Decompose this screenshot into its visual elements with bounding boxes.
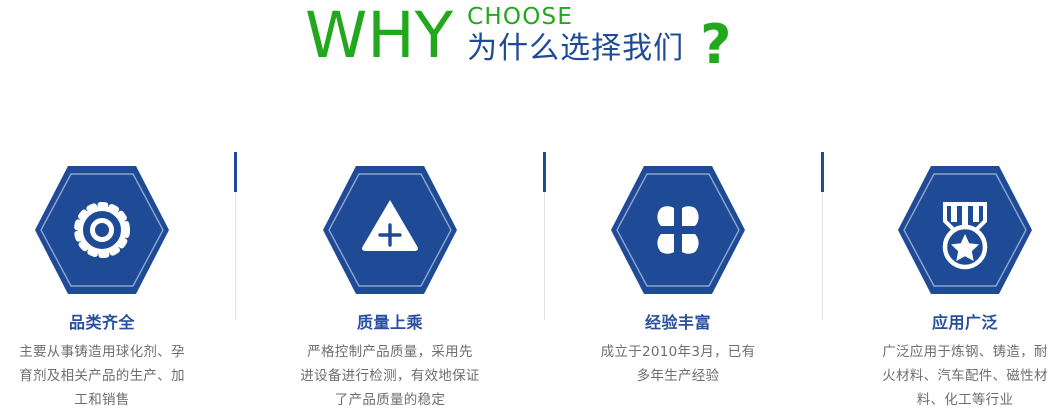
description-line: 料、化工等行业 [833, 388, 1055, 412]
header-why-text: WHY [305, 4, 453, 67]
description-line: 成立于2010年3月，已有 [546, 340, 810, 364]
divider-blue-segment [821, 152, 824, 192]
feature-column-4[interactable]: 应用广泛 广泛应用于炼钢、铸造，耐 火材料、汽车配件、磁性材 料、化工等行业 [833, 140, 1055, 416]
feature-column-2[interactable]: 质量上乘 严格控制产品质量，采用先 进设备进行检测，有效地保证 了产品质量的稳定 [258, 140, 522, 416]
header-subtitle-group: CHOOSE 为什么选择我们 [467, 4, 684, 66]
hexagon-badge-3 [609, 164, 747, 296]
hexagon-badge-2 [321, 164, 459, 296]
feature-title: 质量上乘 [258, 313, 522, 333]
feature-description: 成立于2010年3月，已有 多年生产经验 [546, 340, 810, 388]
header-choose-text: CHOOSE [467, 4, 684, 31]
description-line: 工和销售 [0, 388, 234, 412]
triangle-plus-icon [321, 164, 459, 296]
section-header: WHY CHOOSE 为什么选择我们 ? [0, 0, 1055, 95]
feature-column-1[interactable]: 品类齐全 主要从事铸造用球化剂、孕 育剂及相关产品的生产、加 工和销售 [0, 140, 234, 416]
description-line: 育剂及相关产品的生产、加 [0, 364, 234, 388]
divider-gray-segment [235, 192, 236, 320]
description-line: 进设备进行检测，有效地保证 [258, 364, 522, 388]
feature-title: 品类齐全 [0, 313, 234, 333]
divider-blue-segment [234, 152, 237, 192]
feature-title: 应用广泛 [833, 313, 1055, 333]
divider-gray-segment [822, 192, 823, 320]
description-line: 多年生产经验 [546, 364, 810, 388]
header-title-group: WHY CHOOSE 为什么选择我们 ? [305, 2, 731, 72]
feature-description: 广泛应用于炼钢、铸造，耐 火材料、汽车配件、磁性材 料、化工等行业 [833, 340, 1055, 412]
feature-description: 主要从事铸造用球化剂、孕 育剂及相关产品的生产、加 工和销售 [0, 340, 234, 412]
divider-gray-segment [544, 192, 545, 320]
description-line: 广泛应用于炼钢、铸造，耐 [833, 340, 1055, 364]
hexagon-badge-1 [33, 164, 171, 296]
feature-columns: 品类齐全 主要从事铸造用球化剂、孕 育剂及相关产品的生产、加 工和销售 质量上乘… [0, 140, 1055, 416]
description-line: 严格控制产品质量，采用先 [258, 340, 522, 364]
description-line: 了产品质量的稳定 [258, 388, 522, 412]
description-line: 主要从事铸造用球化剂、孕 [0, 340, 234, 364]
header-chinese-text: 为什么选择我们 [467, 32, 684, 66]
feature-column-3[interactable]: 经验丰富 成立于2010年3月，已有 多年生产经验 [546, 140, 810, 416]
description-line: 火材料、汽车配件、磁性材 [833, 364, 1055, 388]
medal-star-icon [896, 164, 1034, 296]
feature-title: 经验丰富 [546, 313, 810, 333]
four-petal-clover-icon [609, 164, 747, 296]
feature-description: 严格控制产品质量，采用先 进设备进行检测，有效地保证 了产品质量的稳定 [258, 340, 522, 412]
hexagon-badge-4 [896, 164, 1034, 296]
gear-icon [33, 164, 171, 296]
header-question-mark: ? [700, 18, 731, 72]
